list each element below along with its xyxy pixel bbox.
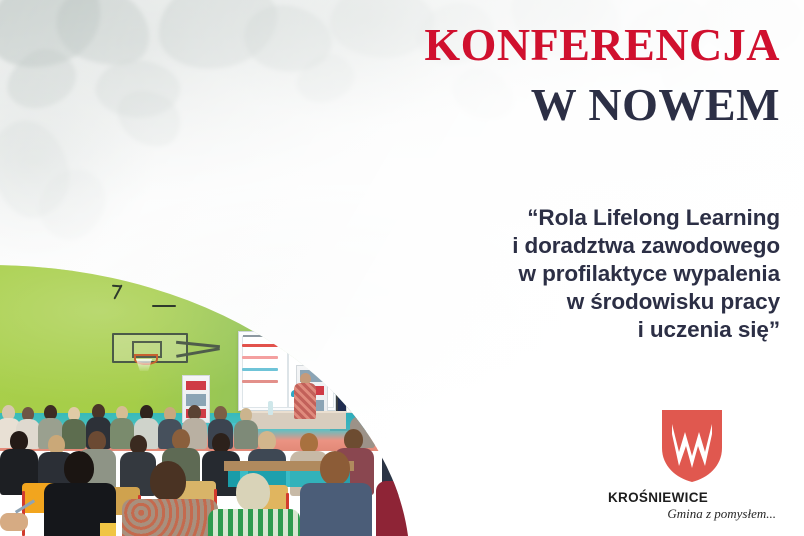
audience-head bbox=[258, 431, 276, 451]
audience-head bbox=[10, 431, 28, 451]
audience-head-front bbox=[150, 461, 186, 501]
audience-head bbox=[344, 429, 363, 450]
audience-head bbox=[88, 431, 106, 451]
quote-line: i doradztwa zawodowego bbox=[360, 232, 780, 260]
board-chart-bar bbox=[242, 356, 278, 359]
coat-of-arms-shield-icon bbox=[660, 408, 724, 484]
board-chart-bar bbox=[242, 368, 278, 371]
municipality-tagline: Gmina z pomysłem... bbox=[602, 506, 776, 522]
audience-body bbox=[62, 419, 86, 449]
audience-body-front-floral bbox=[122, 499, 218, 536]
page-title: KONFERENCJA bbox=[360, 22, 780, 68]
audience-head bbox=[300, 433, 318, 453]
audience-head bbox=[172, 429, 190, 450]
page-subtitle: W NOWEM bbox=[360, 82, 780, 128]
board-chart-bar bbox=[242, 380, 278, 383]
audience-head-front bbox=[64, 451, 94, 485]
audience-hand bbox=[0, 513, 28, 531]
municipality-logo: KROŚNIEWICE Gmina z pomysłem... bbox=[602, 408, 782, 522]
conference-topic-quote: “Rola Lifelong Learning i doradztwa zawo… bbox=[360, 204, 780, 344]
audience-head-front bbox=[320, 451, 350, 485]
audience-body-front bbox=[300, 483, 372, 536]
audience-body bbox=[234, 420, 258, 449]
poster-title-block: KONFERENCJA W NOWEM bbox=[360, 22, 780, 128]
quote-line: i uczenia się” bbox=[360, 316, 780, 344]
audience-body-front-striped bbox=[208, 509, 300, 536]
banner-stripe bbox=[186, 381, 206, 390]
quote-line: w środowisku pracy bbox=[360, 288, 780, 316]
wall-hook-icon bbox=[152, 305, 176, 307]
conference-poster: KONFERENCJA W NOWEM “Rola Lifelong Learn… bbox=[0, 0, 804, 536]
quote-line: w profilaktyce wypalenia bbox=[360, 260, 780, 288]
quote-line: “Rola Lifelong Learning bbox=[360, 204, 780, 232]
audience-head bbox=[212, 433, 230, 453]
water-bottle-icon bbox=[268, 401, 273, 415]
audience-head-front bbox=[236, 473, 270, 511]
municipality-name: KROŚNIEWICE bbox=[608, 490, 782, 505]
tote-bag-icon bbox=[100, 523, 116, 536]
presenter-body bbox=[294, 383, 316, 419]
board-chart-bar bbox=[242, 344, 278, 347]
banner-image bbox=[186, 394, 206, 406]
